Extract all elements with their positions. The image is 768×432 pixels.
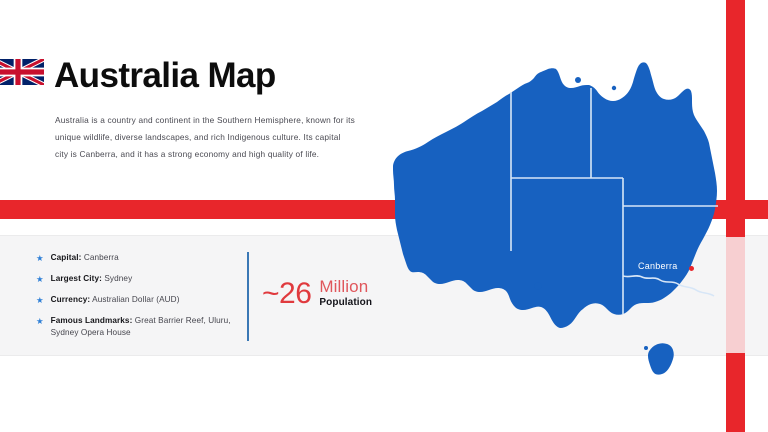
union-jack-flag-icon <box>0 59 44 92</box>
star-icon: ★ <box>36 273 44 285</box>
list-item: ★ Famous Landmarks: Great Barrier Reef, … <box>36 315 241 339</box>
fact-largest-city: Largest City: Sydney <box>51 273 133 285</box>
groote-eylandt <box>612 86 616 90</box>
fact-label: Capital: <box>51 253 82 262</box>
melville-island <box>575 77 581 83</box>
flinders-island <box>644 346 648 350</box>
star-icon: ★ <box>36 294 44 306</box>
vertical-stripe-fade-overlay <box>726 237 745 353</box>
star-icon: ★ <box>36 315 44 327</box>
tasmania-shape <box>648 343 674 374</box>
stat-text-group: Million Population <box>319 278 372 309</box>
map-landmass <box>390 62 717 328</box>
fact-capital: Capital: Canberra <box>51 252 119 264</box>
fact-label: Currency: <box>51 295 91 304</box>
australia-map <box>378 58 730 380</box>
map-pin-dot-icon <box>689 266 694 271</box>
fact-label: Largest City: <box>51 274 102 283</box>
page-title: Australia Map <box>54 56 276 96</box>
fact-landmarks: Famous Landmarks: Great Barrier Reef, Ul… <box>51 315 241 339</box>
fact-value: Sydney <box>104 274 132 283</box>
slide-canvas: Canberra Australia Map Australia is a co… <box>0 0 768 432</box>
stat-label: Population <box>319 297 372 308</box>
fact-value: Australian Dollar (AUD) <box>92 295 179 304</box>
stat-divider <box>247 252 249 341</box>
star-icon: ★ <box>36 252 44 264</box>
stat-unit: Million <box>319 278 372 296</box>
kangaroo-island <box>535 283 542 290</box>
canberra-label: Canberra <box>638 261 678 271</box>
list-item: ★ Currency: Australian Dollar (AUD) <box>36 294 241 306</box>
list-item: ★ Largest City: Sydney <box>36 273 241 285</box>
fact-label: Famous Landmarks: <box>51 316 133 325</box>
fact-value: Canberra <box>84 253 119 262</box>
fact-list: ★ Capital: Canberra ★ Largest City: Sydn… <box>36 252 241 347</box>
stat-number: ~26 <box>262 280 311 309</box>
list-item: ★ Capital: Canberra <box>36 252 241 264</box>
intro-paragraph: Australia is a country and continent in … <box>55 112 355 163</box>
fact-currency: Currency: Australian Dollar (AUD) <box>51 294 180 306</box>
population-stat: ~26 Million Population <box>262 278 372 309</box>
